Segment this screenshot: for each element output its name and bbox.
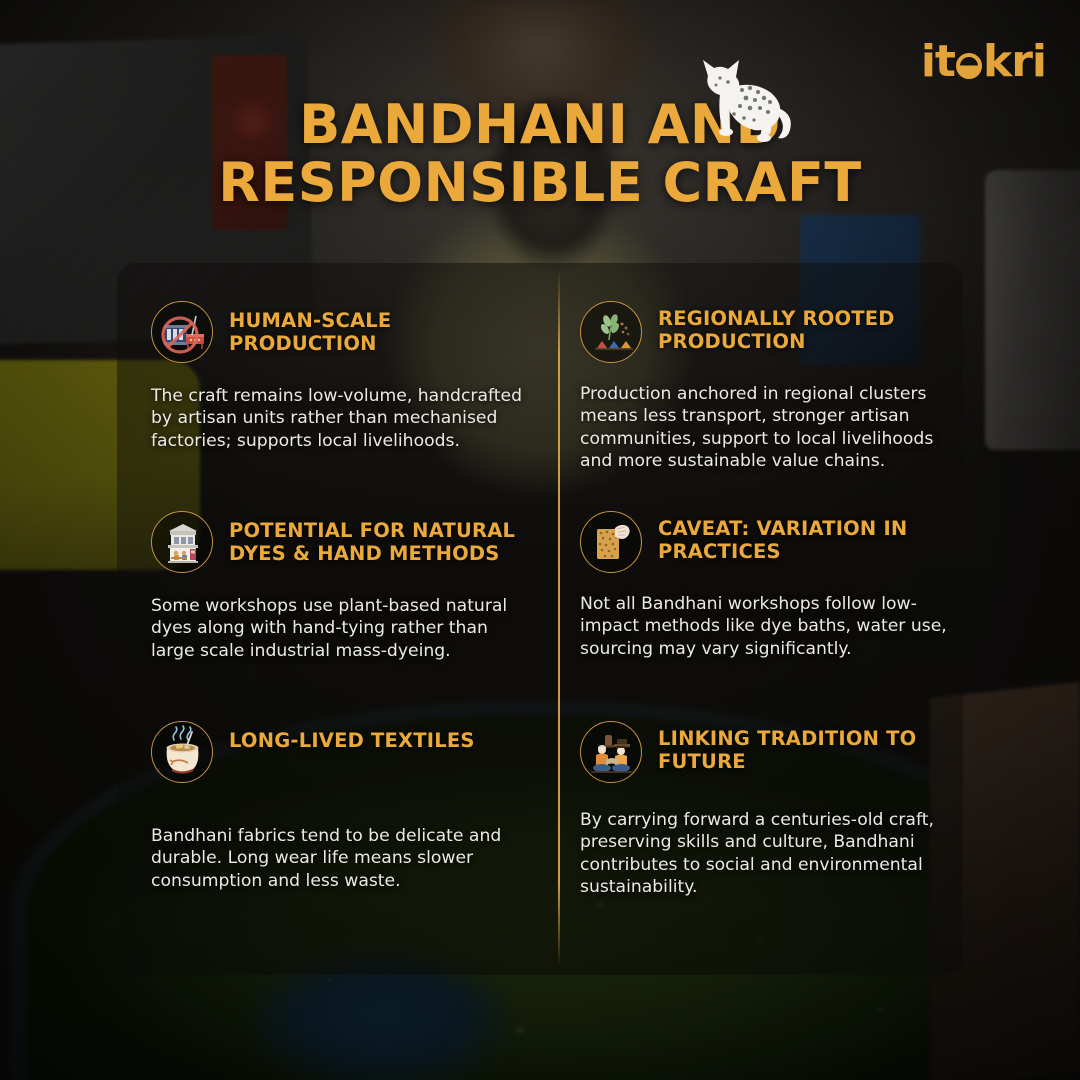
card-title: HUMAN-SCALE PRODUCTION: [229, 301, 536, 355]
page-title-line-1: BANDHANI AND: [0, 96, 1080, 154]
page-title-line-2: RESPONSIBLE CRAFT: [0, 154, 1080, 212]
card-body: By carrying forward a centuries-old craf…: [580, 809, 949, 898]
brand-logo[interactable]: itkri: [921, 40, 1046, 84]
hand-holding-fabric-icon: [580, 511, 642, 573]
cat-silhouette-icon: [690, 52, 802, 158]
card-header: LONG-LIVED TEXTILES: [151, 721, 536, 783]
card-title: POTENTIAL FOR NATURAL DYES & HAND METHOD…: [229, 511, 536, 565]
card-title: REGIONALLY ROOTED PRODUCTION: [658, 301, 949, 353]
card-body: Not all Bandhani workshops follow low-im…: [580, 593, 949, 660]
card-potential-for-natural-dyes: POTENTIAL FOR NATURAL DYES & HAND METHOD…: [117, 511, 558, 721]
brand-logo-o-glyph: [956, 53, 982, 79]
card-regionally-rooted-production: REGIONALLY ROOTED PRODUCTION Production …: [558, 301, 963, 511]
two-artisans-icon: [580, 721, 642, 783]
card-header: CAVEAT: VARIATION IN PRACTICES: [580, 511, 949, 573]
card-human-scale-production: HUMAN-SCALE PRODUCTION The craft remains…: [117, 301, 558, 511]
card-body: Bandhani fabrics tend to be delicate and…: [151, 825, 536, 892]
card-title: LINKING TRADITION TO FUTURE: [658, 721, 949, 773]
card-header: LINKING TRADITION TO FUTURE: [580, 721, 949, 783]
card-title: CAVEAT: VARIATION IN PRACTICES: [658, 511, 949, 563]
brand-logo-text-1: it: [921, 36, 955, 87]
workshop-building-icon: [151, 511, 213, 573]
card-header: HUMAN-SCALE PRODUCTION: [151, 301, 536, 363]
card-body: Some workshops use plant-based natural d…: [151, 595, 536, 662]
card-header: POTENTIAL FOR NATURAL DYES & HAND METHOD…: [151, 511, 536, 573]
steaming-dye-pot-icon: [151, 721, 213, 783]
card-body: Production anchored in regional clusters…: [580, 383, 949, 472]
no-factory-icon: [151, 301, 213, 363]
content-panel: HUMAN-SCALE PRODUCTION The craft remains…: [117, 263, 963, 975]
sprout-dye-piles-icon: [580, 301, 642, 363]
page-title: BANDHANI AND RESPONSIBLE CRAFT: [0, 96, 1080, 212]
header: itkri BANDHANI AND RESPONSIBLE CRAFT: [0, 0, 1080, 265]
card-title: LONG-LIVED TEXTILES: [229, 721, 475, 753]
card-header: REGIONALLY ROOTED PRODUCTION: [580, 301, 949, 363]
card-long-lived-textiles: LONG-LIVED TEXTILES Bandhani fabrics ten…: [117, 721, 558, 951]
brand-logo-text-2: kri: [983, 36, 1046, 87]
card-linking-tradition-to-future: LINKING TRADITION TO FUTURE By carrying …: [558, 721, 963, 951]
card-caveat-variation-in-practices: CAVEAT: VARIATION IN PRACTICES Not all B…: [558, 511, 963, 721]
card-body: The craft remains low-volume, handcrafte…: [151, 385, 536, 452]
